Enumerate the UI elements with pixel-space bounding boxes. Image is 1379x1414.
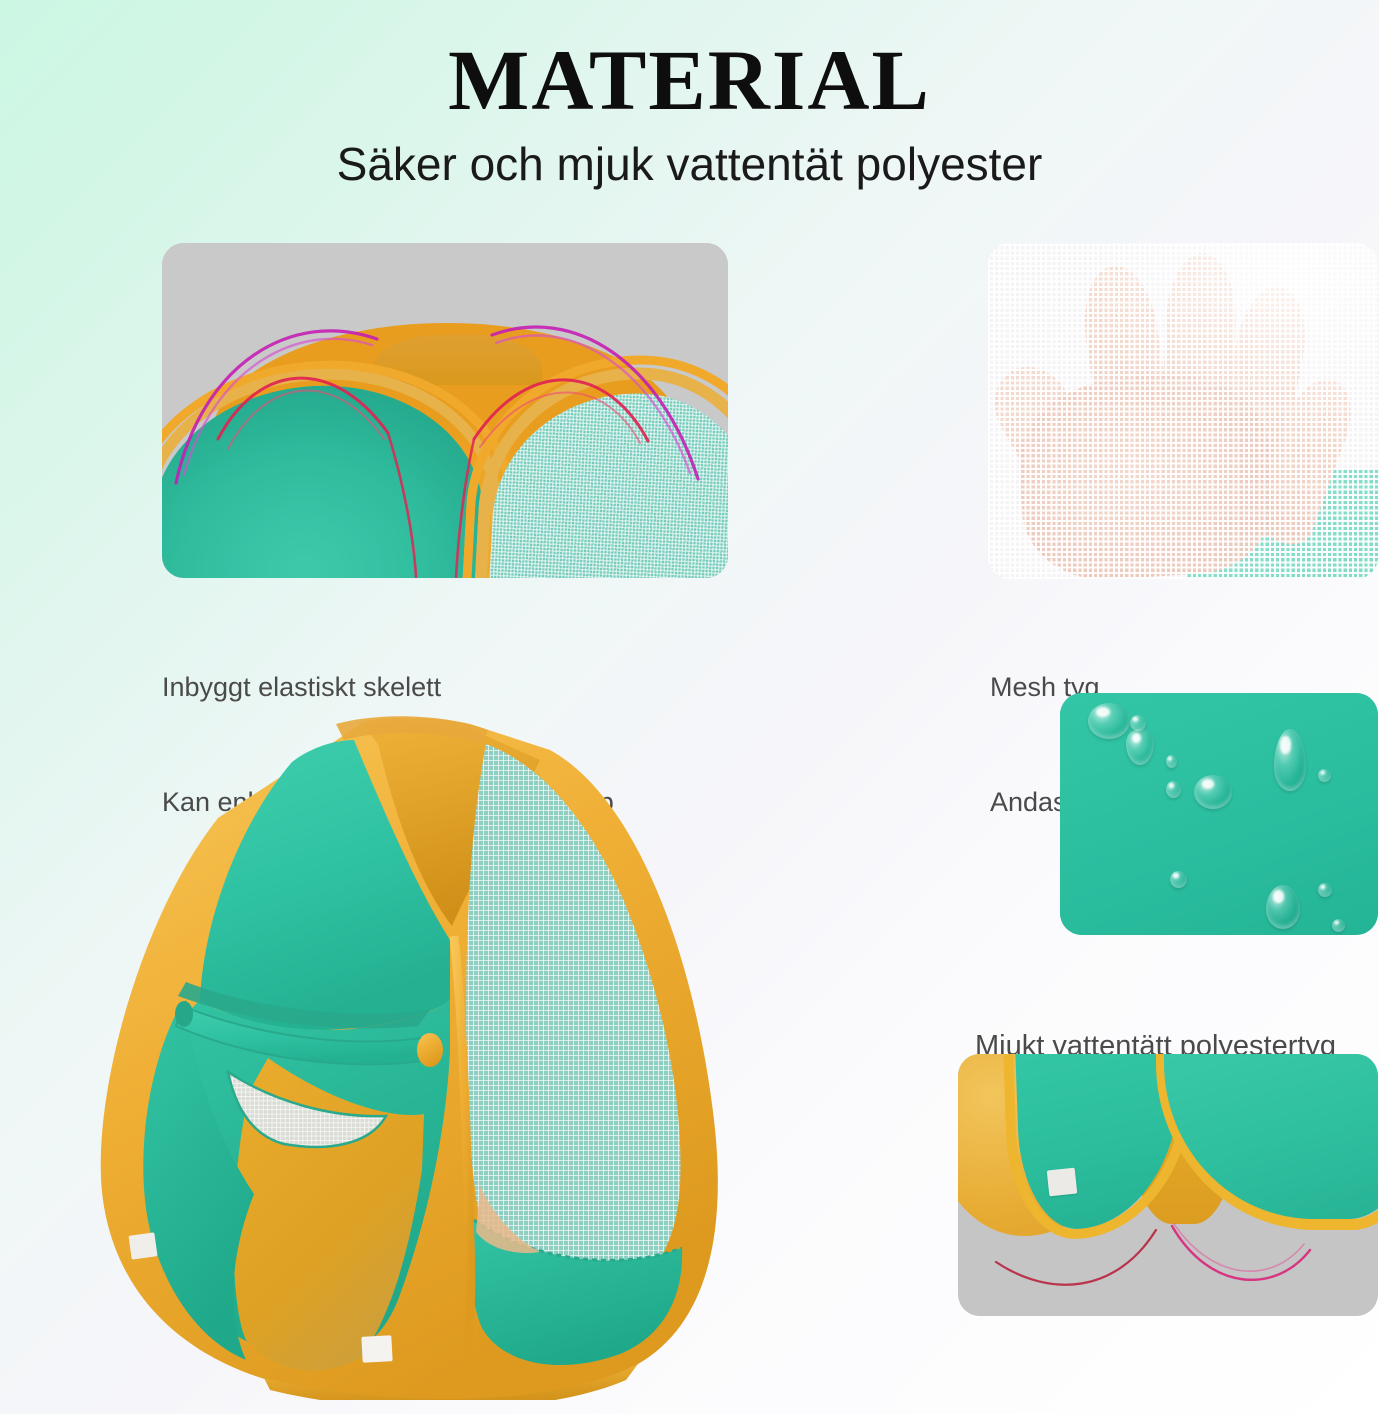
feature-image-bottom-edge (958, 1054, 1378, 1316)
feature-image-waterproof (1060, 693, 1378, 935)
mesh-photo (988, 243, 1378, 579)
tent-roll-toggle (417, 1033, 443, 1067)
water-droplet (1166, 755, 1177, 768)
water-droplet (1088, 703, 1130, 739)
care-label-square (361, 1335, 392, 1363)
frame-arc-overlay (958, 1054, 1378, 1316)
feature-image-skeleton (162, 243, 728, 578)
care-label-square (128, 1232, 157, 1259)
water-droplet (1166, 781, 1181, 798)
pop-up-tent-illustration (78, 700, 768, 1400)
water-droplet (1318, 883, 1332, 897)
tent-roll-end-left (175, 1001, 193, 1027)
water-droplet (1194, 775, 1232, 809)
mesh-highlight (988, 243, 1378, 579)
main-product-image (78, 700, 768, 1400)
feature-image-mesh (988, 243, 1378, 579)
frame-arc-overlay (162, 243, 728, 578)
page-title: MATERIAL (0, 34, 1379, 127)
page-subtitle: Säker och mjuk vattentät polyester (0, 138, 1379, 191)
water-droplet (1266, 885, 1300, 929)
water-droplet (1170, 871, 1187, 888)
infographic-page: MATERIAL Säker och mjuk vattentät polyes… (0, 0, 1379, 1414)
water-droplet (1318, 769, 1331, 782)
water-droplet (1332, 919, 1345, 932)
